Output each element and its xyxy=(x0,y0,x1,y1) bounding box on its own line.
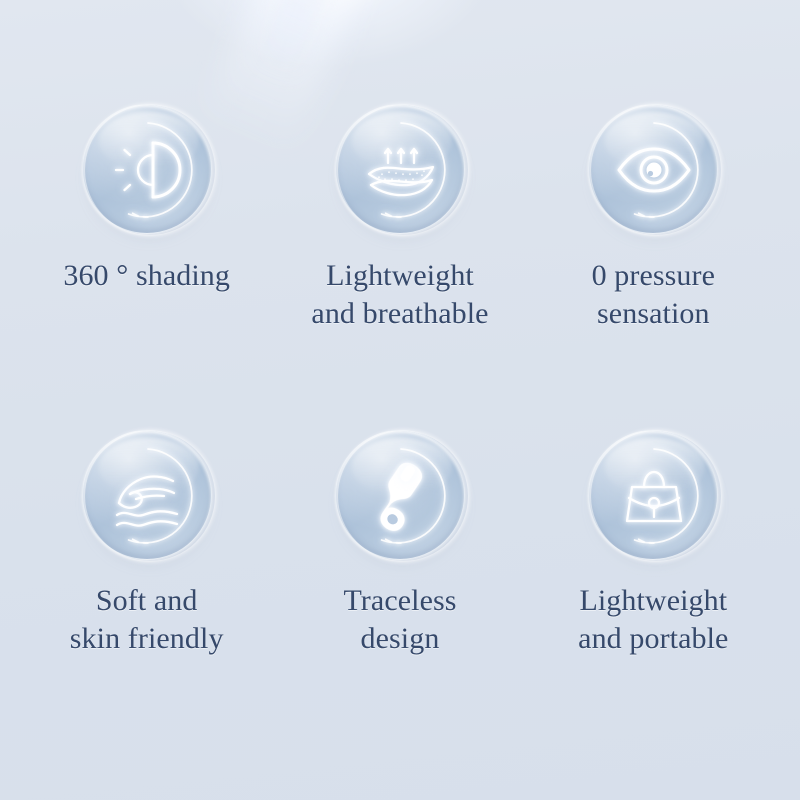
hand-waves-icon xyxy=(83,431,213,561)
feature-item-shading[interactable]: 360 ° shading xyxy=(20,104,273,430)
badge-disc xyxy=(82,104,212,234)
feature-icon-badge-pressure xyxy=(586,104,720,238)
feature-item-soft[interactable]: Soft and skin friendly xyxy=(20,430,273,756)
feature-item-pressure[interactable]: 0 pressure sensation xyxy=(527,104,780,430)
feature-label: Soft and skin friendly xyxy=(70,582,224,659)
breathable-fabric-icon xyxy=(336,105,466,235)
feature-item-portable[interactable]: Lightweight and portable xyxy=(527,430,780,756)
shading-brightness-icon xyxy=(83,105,213,235)
sleep-mask-icon xyxy=(336,431,466,561)
badge-disc xyxy=(335,430,465,560)
feature-icon-badge-shading xyxy=(80,104,214,238)
badge-disc xyxy=(588,104,718,234)
feature-item-traceless[interactable]: Traceless design xyxy=(273,430,526,756)
badge-disc xyxy=(82,430,212,560)
feature-icon-badge-breathable xyxy=(333,104,467,238)
feature-label: Traceless design xyxy=(343,582,456,659)
feature-grid-panel: 360 ° shading xyxy=(0,0,800,800)
feature-icon-badge-soft xyxy=(80,430,214,564)
badge-disc xyxy=(335,104,465,234)
handbag-icon xyxy=(589,431,719,561)
feature-label: Lightweight and portable xyxy=(578,582,728,659)
eye-icon xyxy=(589,105,719,235)
feature-grid: 360 ° shading xyxy=(0,0,800,800)
feature-label: 360 ° shading xyxy=(63,257,230,295)
feature-icon-badge-portable xyxy=(586,430,720,564)
badge-disc xyxy=(588,430,718,560)
feature-label: 0 pressure sensation xyxy=(592,257,715,334)
feature-item-breathable[interactable]: Lightweight and breathable xyxy=(273,104,526,430)
feature-icon-badge-traceless xyxy=(333,430,467,564)
feature-label: Lightweight and breathable xyxy=(311,257,488,334)
